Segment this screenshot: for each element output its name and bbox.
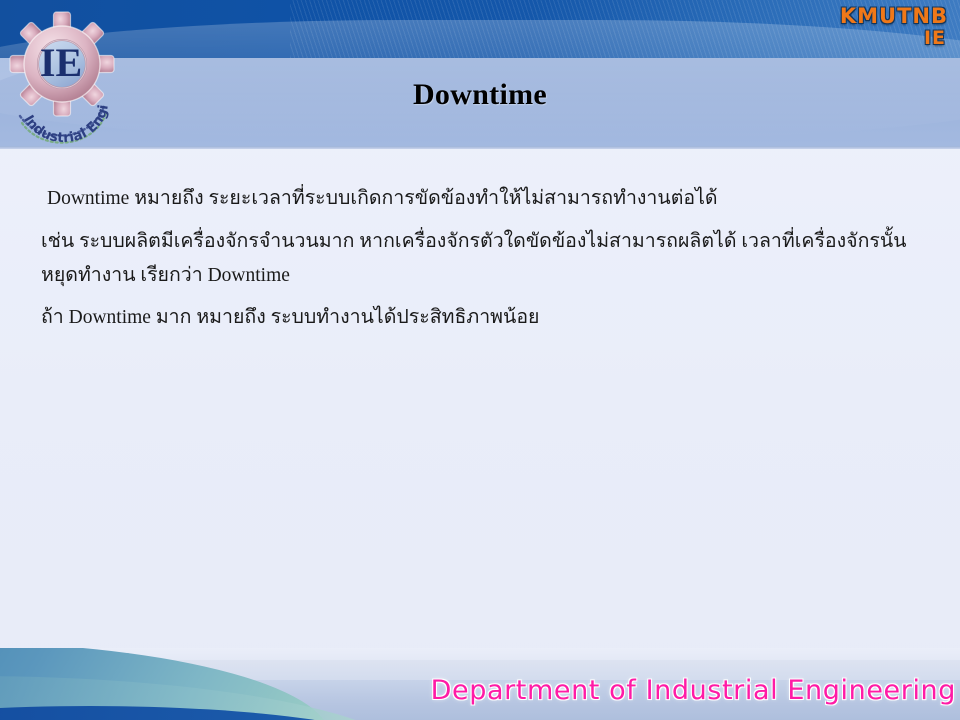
slide-body: Downtime หมายถึง ระยะเวลาที่ระบบเกิดการข… <box>0 149 960 649</box>
slide-canvas: IE Industrial Engineering KMUTNB IE Down… <box>0 0 960 720</box>
slide-header <box>0 0 960 149</box>
page-title: Downtime <box>0 78 960 112</box>
body-paragraph: Downtime หมายถึง ระยะเวลาที่ระบบเกิดการข… <box>47 182 927 216</box>
ie-department-logo: IE Industrial Engineering <box>8 6 120 144</box>
footer-department-text: Department of Industrial Engineering <box>431 675 956 706</box>
kmutnb-logo-line2: IE <box>822 29 952 48</box>
gear-icon: IE Industrial Engineering <box>8 6 120 144</box>
slide-footer: Department of Industrial Engineering <box>0 648 960 720</box>
body-paragraph: เช่น ระบบผลิตมีเครื่องจักรจำนวนมาก หากเค… <box>41 225 921 292</box>
kmutnb-logo-line1: KMUTNB <box>822 6 952 27</box>
kmutnb-logo: KMUTNB IE <box>822 6 952 62</box>
body-paragraph: ถ้า Downtime มาก หมายถึง ระบบทำงานได้ประ… <box>41 301 921 335</box>
